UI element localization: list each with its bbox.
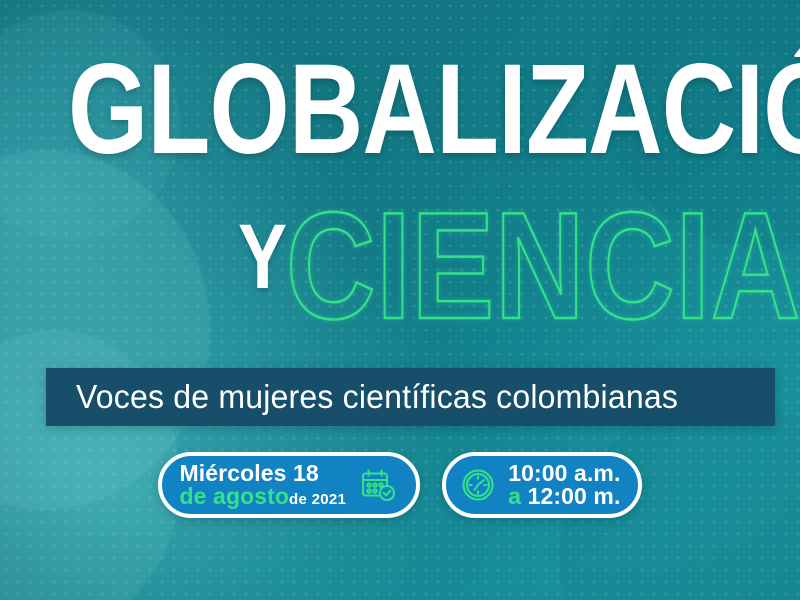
date-pill[interactable]: Miércoles 18 de agostode 2021 xyxy=(158,452,421,518)
subtitle-text: Voces de mujeres científicas colombianas xyxy=(76,378,678,416)
time-connector: a xyxy=(508,483,521,509)
date-weekday-day: Miércoles 18 xyxy=(180,462,347,485)
title-conjunction-y: Y xyxy=(238,220,287,295)
subtitle-bar: Voces de mujeres científicas colombianas xyxy=(46,368,775,426)
time-end: 12:00 m. xyxy=(528,483,621,509)
event-poster: GLOBALIZACIÓN Y CIENCIA Voces de mujeres… xyxy=(0,0,800,600)
clock-icon xyxy=(458,465,498,505)
date-month-year: de agostode 2021 xyxy=(180,485,347,508)
time-end-group: a 12:00 m. xyxy=(508,485,620,508)
date-text-group: Miércoles 18 de agostode 2021 xyxy=(180,462,347,509)
event-details-row: Miércoles 18 de agostode 2021 xyxy=(0,452,800,518)
date-month: de agosto xyxy=(180,483,290,509)
title-line-globalizacion: GLOBALIZACIÓN xyxy=(68,58,632,163)
time-start: 10:00 a.m. xyxy=(508,462,620,485)
time-pill[interactable]: 10:00 a.m. a 12:00 m. xyxy=(442,452,642,518)
time-text-group: 10:00 a.m. a 12:00 m. xyxy=(508,462,620,509)
title-line-ciencia: CIENCIA xyxy=(286,198,800,335)
date-year: de 2021 xyxy=(289,491,346,508)
calendar-check-icon xyxy=(358,465,398,505)
